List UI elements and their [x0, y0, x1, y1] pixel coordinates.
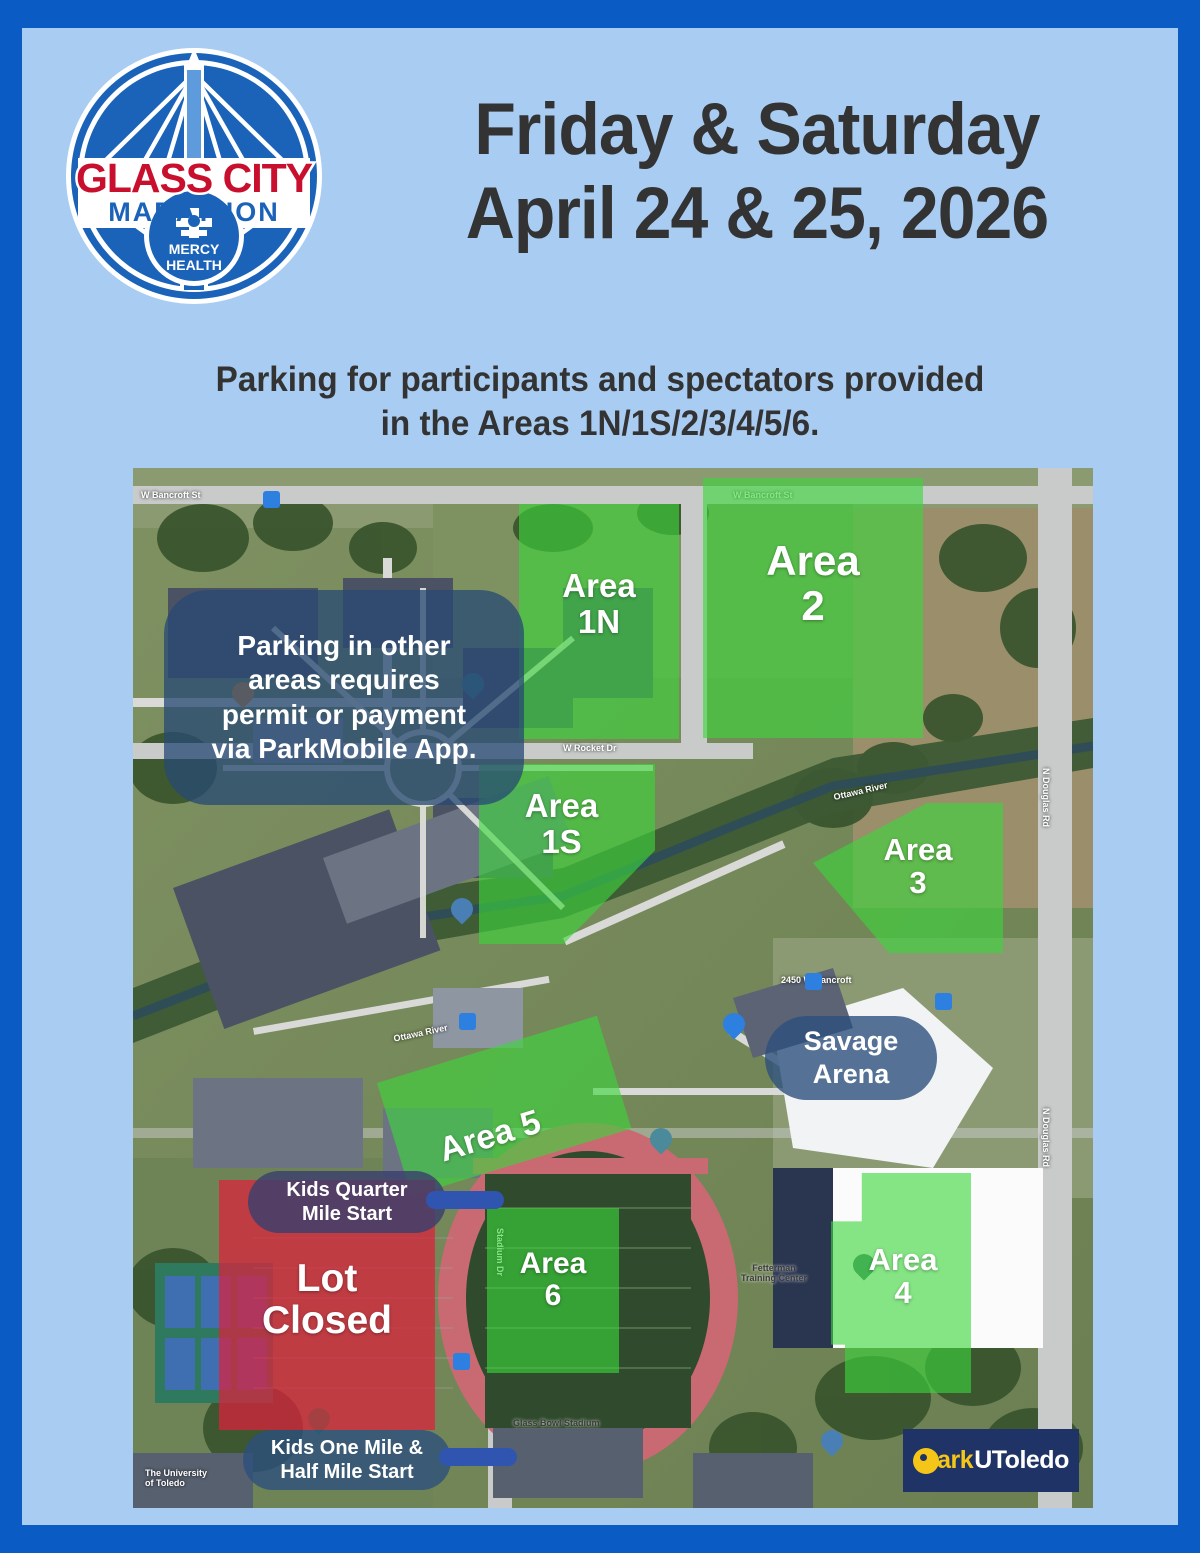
subtitle-line-1: Parking for participants and spectators … [108, 358, 1092, 402]
zone-area-2[interactable] [703, 478, 923, 738]
title-line-1: Friday & Saturday [390, 88, 1125, 172]
info-marker-4 [935, 993, 952, 1010]
place-pin-icon-2 [650, 1128, 672, 1156]
logo-primary-text: GLASS CITY [76, 155, 313, 201]
place-pin-icon-3 [723, 1013, 745, 1041]
imagery-label-douglas: N Douglas Rd [1041, 1108, 1051, 1167]
kids-one-half-line-2: Half Mile Start [280, 1461, 413, 1483]
header: MERCY HEALTH GLASS CITY MARATHON Friday … [22, 28, 1178, 358]
place-pin-icon-5 [821, 1430, 843, 1458]
park-p-mark-icon [913, 1448, 939, 1474]
info-marker-1 [263, 491, 280, 508]
imagery-label-street-mid: W Rocket Dr [563, 743, 617, 753]
venue-line-2: Arena [813, 1059, 890, 1089]
sponsor-line2: HEALTH [166, 257, 222, 273]
event-title: Friday & Saturday April 24 & 25, 2026 [362, 88, 1152, 256]
zone-area-6[interactable] [487, 1208, 619, 1373]
kids-quarter-start-line-marker [426, 1191, 504, 1209]
imagery-label-street-top: W Bancroft St [141, 490, 201, 500]
kids-one-mile-start-label: Kids One Mile & Half Mile Start [243, 1430, 451, 1490]
title-line-2: April 24 & 25, 2026 [390, 172, 1125, 256]
parking-map[interactable]: W Bancroft St W Bancroft St W Rocket Dr … [133, 468, 1093, 1508]
sponsor-line1: MERCY [169, 241, 220, 257]
logo-secondary-text: MARATHON [108, 197, 279, 227]
savage-arena-label: Savage Arena [765, 1016, 937, 1100]
kids-quarter-mile-start-label: Kids Quarter Mile Start [248, 1171, 446, 1233]
park-logo-white-text: UToledo [974, 1446, 1069, 1475]
imagery-label-douglas-2: N Douglas Rd [1041, 768, 1051, 827]
park-logo-yellow-text: ark [937, 1446, 973, 1475]
kids-one-mile-start-line-marker [439, 1448, 517, 1466]
info-marker-3 [453, 1353, 470, 1370]
imagery-label-fetterman: FettermanTraining Center [741, 1263, 807, 1283]
marathon-badge-icon: MERCY HEALTH GLASS CITY MARATHON [58, 40, 330, 312]
zone-area-1n[interactable] [519, 504, 679, 739]
subtitle-line-2: in the Areas 1N/1S/2/3/4/5/6. [108, 402, 1092, 446]
parking-subtitle: Parking for participants and spectators … [108, 358, 1092, 446]
note-line-3: permit or payment [222, 699, 466, 730]
imagery-label-glassbowl: Glass Bowl Stadium [513, 1418, 600, 1428]
info-marker-2 [459, 1013, 476, 1030]
place-pin-icon-1 [451, 898, 473, 926]
note-line-4: via ParkMobile App. [211, 733, 476, 764]
kids-quarter-line-2: Mile Start [302, 1203, 392, 1225]
kids-quarter-line-1: Kids Quarter [286, 1179, 407, 1201]
info-marker-5 [805, 973, 822, 990]
parkmobile-note-callout: Parking in other areas requires permit o… [164, 590, 524, 805]
venue-line-1: Savage [804, 1026, 899, 1056]
glass-city-marathon-logo: MERCY HEALTH GLASS CITY MARATHON [58, 40, 330, 312]
kids-one-half-line-1: Kids One Mile & [271, 1437, 423, 1459]
imagery-label-university: The Universityof Toledo [145, 1468, 207, 1488]
flyer-panel: MERCY HEALTH GLASS CITY MARATHON Friday … [22, 28, 1178, 1525]
note-line-2: areas requires [248, 664, 439, 695]
note-line-1: Parking in other [237, 630, 450, 661]
parkutoledo-logo[interactable]: ark UToledo [903, 1429, 1079, 1492]
